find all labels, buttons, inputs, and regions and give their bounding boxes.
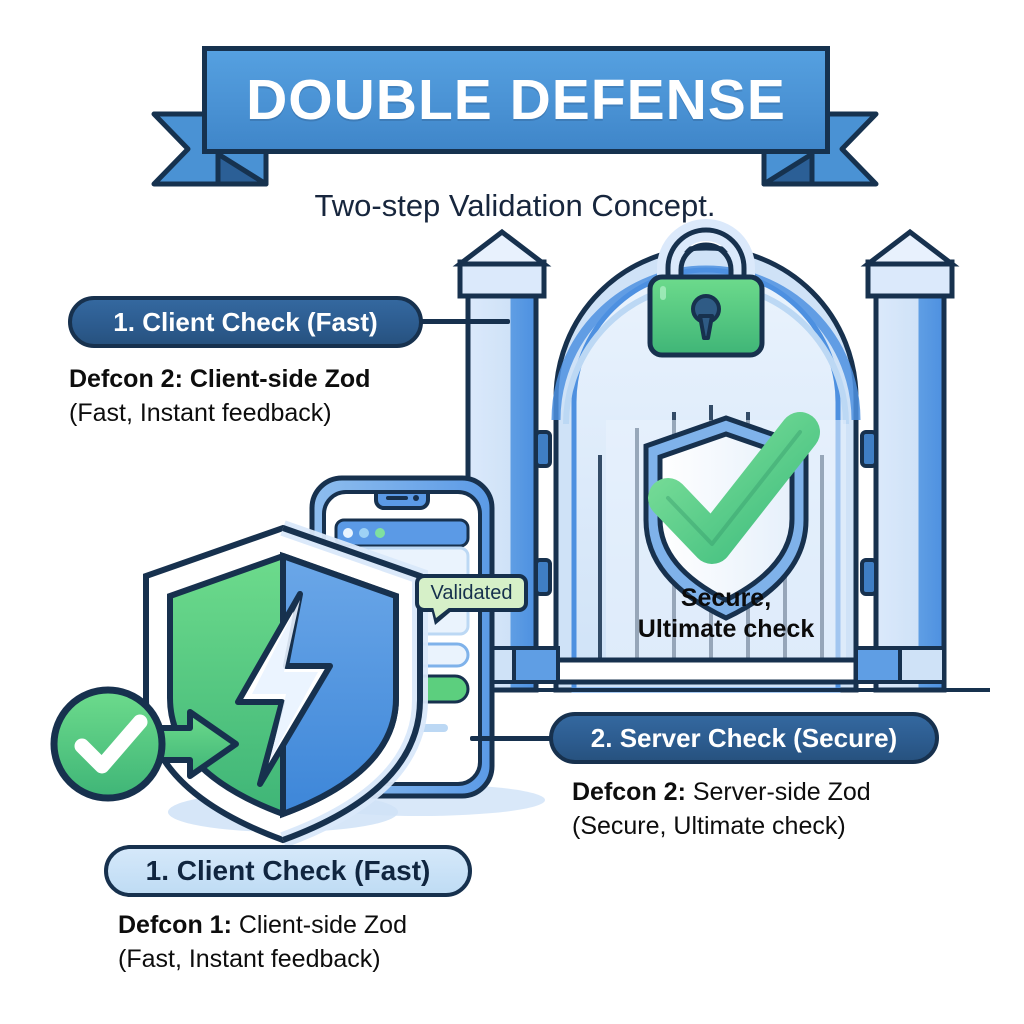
- caption-client-bottom-line2: (Fast, Instant feedback): [118, 942, 407, 976]
- banner-plate: DOUBLE DEFENSE: [202, 46, 830, 154]
- caption-client-top-line2: (Fast, Instant feedback): [69, 396, 370, 430]
- gate-caption-line2: Ultimate check: [620, 614, 832, 645]
- shield-bolt-icon: [146, 528, 420, 840]
- gate-pillar-right: [862, 232, 952, 690]
- infographic-canvas: DOUBLE DEFENSE Two-step Validation Conce…: [0, 0, 1024, 1024]
- gate-caption: Secure, Ultimate check: [620, 583, 832, 645]
- banner-title: DOUBLE DEFENSE: [246, 67, 786, 133]
- connector-server: [470, 736, 554, 741]
- pill-server-check[interactable]: 2. Server Check (Secure): [549, 712, 939, 764]
- arrow-right-icon: [120, 712, 236, 776]
- connector-client-top: [418, 319, 510, 324]
- caption-client-top-rest: Client-side Zod: [183, 365, 371, 393]
- validated-bubble: Validated: [415, 574, 528, 612]
- caption-client-top: Defcon 2: Client-side Zod (Fast, Instant…: [69, 362, 370, 430]
- check-circle-icon: [54, 690, 162, 798]
- caption-server-bold: Defcon 2:: [572, 778, 686, 806]
- smartphone-icon: [295, 478, 545, 816]
- pill-server-check-label: 2. Server Check (Secure): [591, 723, 897, 754]
- pill-client-check-bottom-label: 1. Client Check (Fast): [146, 855, 431, 887]
- caption-client-bottom: Defcon 1: Client-side Zod (Fast, Instant…: [118, 908, 407, 976]
- validated-bubble-label: Validated: [431, 582, 513, 605]
- gate-pillar-left: [460, 232, 550, 690]
- banner: DOUBLE DEFENSE Two-step Validation Conce…: [150, 40, 880, 185]
- caption-client-top-bold: Defcon 2:: [69, 365, 183, 393]
- pill-client-check-top[interactable]: 1. Client Check (Fast): [68, 296, 423, 348]
- padlock-icon: [650, 230, 762, 355]
- caption-server-line2: (Secure, Ultimate check): [572, 809, 871, 843]
- caption-server: Defcon 2: Server-side Zod (Secure, Ultim…: [572, 775, 871, 843]
- pill-client-check-top-label: 1. Client Check (Fast): [113, 307, 377, 338]
- banner-subtitle: Two-step Validation Concept.: [150, 188, 880, 224]
- gate-caption-line1: Secure,: [620, 583, 832, 614]
- pill-client-check-bottom[interactable]: 1. Client Check (Fast): [104, 845, 472, 897]
- caption-client-bottom-bold: Defcon 1:: [118, 911, 232, 939]
- caption-server-rest: Server-side Zod: [686, 778, 871, 806]
- caption-client-bottom-rest: Client-side Zod: [232, 911, 407, 939]
